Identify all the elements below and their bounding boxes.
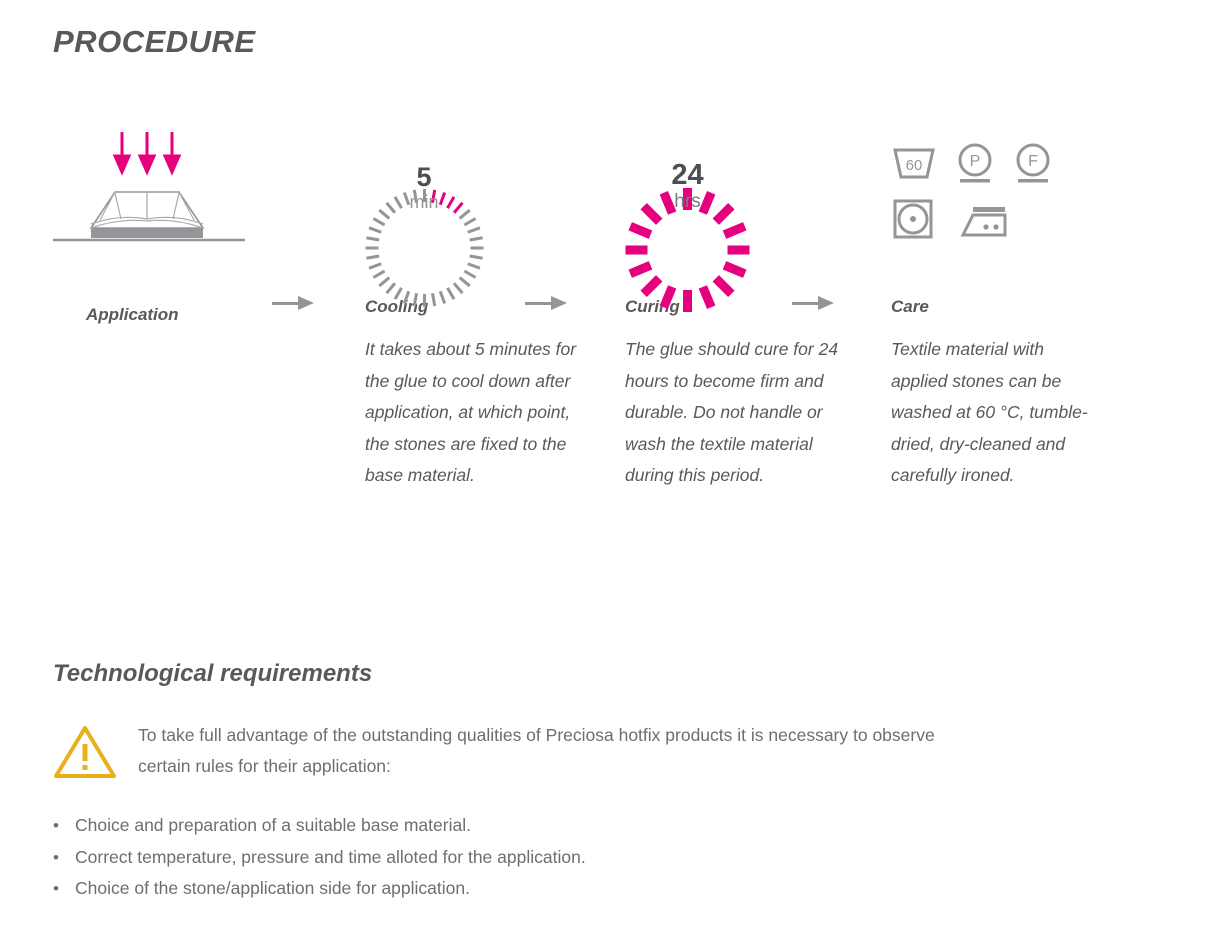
dial-tick	[378, 276, 390, 287]
dial-unit: min	[409, 191, 438, 214]
dryclean-p-icon: P	[955, 142, 995, 185]
arrow-head	[551, 296, 567, 310]
dial-tick	[469, 255, 482, 260]
arrow-cooling-to-curing	[525, 296, 569, 310]
arrow-curing-to-care	[792, 296, 836, 310]
step-heading-care: Care	[891, 297, 1101, 317]
step-heading-application: Application	[86, 305, 303, 325]
curing-artwork: 24 hrs	[625, 100, 850, 270]
care-symbols-row-2	[891, 197, 1066, 240]
burst-unit: hrs	[674, 190, 700, 214]
dryclean-f-icon: F	[1013, 142, 1053, 185]
burst-center-label: 24 hrs	[625, 125, 750, 250]
hotfix-stone-press-icon	[53, 120, 303, 265]
care-artwork: 60 P F	[891, 100, 1101, 270]
application-artwork	[53, 100, 303, 270]
list-item: Correct temperature, pressure and time a…	[53, 842, 586, 874]
procedure-steps: Application 5 min Cooling It takes about…	[0, 100, 1213, 570]
dial-tick	[452, 282, 463, 294]
warning-block: To take full advantage of the outstandin…	[53, 720, 1053, 782]
burst-ray	[723, 261, 747, 278]
burst-value: 24	[671, 161, 703, 190]
care-symbols-icon: 60 P F	[891, 142, 1066, 252]
dial-value: 5	[416, 164, 431, 191]
page-title: PROCEDURE	[53, 24, 256, 60]
arrow-application-to-cooling	[272, 296, 316, 310]
list-item: Choice and preparation of a suitable bas…	[53, 810, 586, 842]
dial-tick	[423, 294, 426, 307]
dial-center-label: 5 min	[365, 130, 483, 248]
dial-tick	[385, 282, 396, 294]
requirements-list: Choice and preparation of a suitable bas…	[53, 810, 586, 905]
cooling-artwork: 5 min	[365, 100, 580, 270]
step-body-cooling: It takes about 5 minutes for the glue to…	[365, 334, 580, 492]
arrow-head	[818, 296, 834, 310]
section-title-technological-requirements: Technological requirements	[53, 660, 372, 688]
wash-tub-temp-label: 60	[906, 157, 923, 174]
burst-timer-icon: 24 hrs	[625, 125, 750, 250]
warning-text: To take full advantage of the outstandin…	[138, 720, 968, 782]
procedure-step-care: 60 P F	[891, 100, 1101, 492]
tumble-dry-icon	[891, 197, 937, 240]
arrow-shaft	[792, 302, 820, 305]
dryclean-p-label: P	[970, 153, 981, 170]
dial-tick	[458, 276, 470, 287]
procedure-step-application: Application	[53, 100, 303, 325]
dryclean-f-label: F	[1028, 153, 1038, 170]
arrow-shaft	[525, 302, 553, 305]
dial-tick	[368, 262, 381, 269]
burst-ray	[683, 290, 692, 312]
dryclean-p-underline	[960, 179, 990, 183]
step-body-care: Textile material with applied stones can…	[891, 334, 1101, 492]
arrow-shaft	[272, 302, 300, 305]
step-body-curing: The glue should cure for 24 hours to bec…	[625, 334, 850, 492]
dial-tick	[463, 270, 476, 279]
dial-tick	[372, 270, 385, 279]
dial-tick	[467, 262, 480, 269]
timer-dial-icon: 5 min	[365, 130, 483, 248]
dial-tick	[366, 255, 379, 260]
care-symbols-row-1: 60 P F	[891, 142, 1066, 185]
iron-two-dots-icon	[955, 197, 1013, 240]
arrow-head	[298, 296, 314, 310]
burst-ray	[640, 275, 662, 297]
wash-tub-60-icon: 60	[891, 142, 937, 182]
dryclean-f-underline	[1018, 179, 1048, 183]
burst-ray	[713, 275, 735, 297]
list-item: Choice of the stone/application side for…	[53, 873, 586, 905]
burst-ray	[628, 261, 652, 278]
warning-triangle-icon	[53, 724, 117, 780]
